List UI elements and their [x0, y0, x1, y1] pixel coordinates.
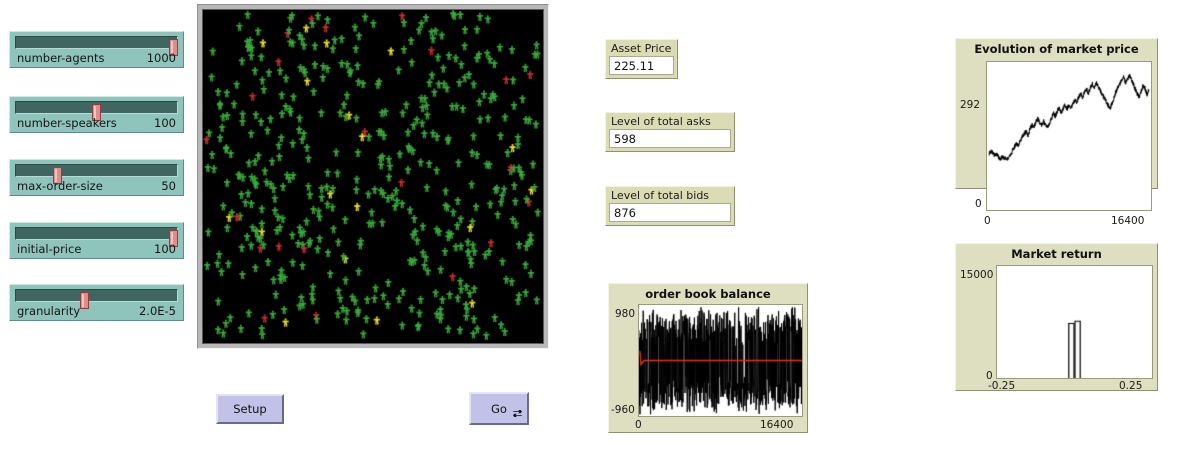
plot-order-book-balance: order book balance 980 -960 0 16400 [608, 283, 808, 433]
plot-x-min-label: 0 [984, 215, 991, 227]
plot-evolution-of-market-price: Evolution of market price 292 0 0 16400 [955, 38, 1158, 189]
slider-max-order-size[interactable]: max-order-size 50 [9, 159, 184, 196]
forever-loop-icon [512, 408, 523, 421]
plot-area [986, 61, 1152, 211]
slider-number-agents[interactable]: number-agents 1000 [9, 31, 184, 68]
monitor-level-of-total-bids: Level of total bids 876 [605, 186, 735, 226]
plot-title: order book balance [609, 287, 807, 301]
slider-value: 2.0E-5 [139, 304, 176, 318]
plot-area [638, 304, 803, 417]
slider-number-speakers[interactable]: number-speakers 100 [9, 96, 184, 133]
slider-value: 50 [161, 179, 176, 193]
slider-label: granularity [17, 304, 80, 318]
plot-y-min-label: 0 [975, 198, 982, 210]
slider-handle[interactable] [80, 292, 89, 309]
slider-track[interactable] [15, 227, 178, 240]
setup-button[interactable]: Setup [216, 394, 284, 424]
go-button[interactable]: Go [469, 392, 529, 425]
slider-initial-price[interactable]: initial-price 100 [9, 222, 184, 259]
slider-label: number-agents [17, 51, 105, 65]
slider-track[interactable] [15, 289, 178, 302]
monitor-value: 876 [609, 203, 731, 222]
plot-x-max-label: 0.25 [1119, 380, 1142, 392]
slider-value: 100 [154, 242, 176, 256]
world-view-container[interactable] [197, 4, 549, 349]
setup-button-label: Setup [233, 402, 266, 416]
monitor-caption: Asset Price [611, 42, 671, 55]
monitor-asset-price: Asset Price 225.11 [605, 39, 678, 79]
plot-y-max-label: 292 [960, 99, 980, 111]
slider-label: initial-price [17, 242, 81, 256]
monitor-caption: Level of total bids [611, 189, 709, 202]
plot-title: Market return [956, 247, 1157, 261]
go-button-label: Go [491, 402, 507, 416]
forever-loop-glyph [512, 408, 523, 419]
slider-track[interactable] [15, 36, 178, 49]
slider-value: 100 [154, 116, 176, 130]
plot-title: Evolution of market price [956, 42, 1157, 56]
plot-x-min-label: -0.25 [988, 380, 1015, 392]
plot-y-max-label: 15000 [960, 269, 993, 281]
slider-track[interactable] [15, 101, 178, 114]
monitor-value: 225.11 [609, 56, 674, 75]
plot-x-min-label: 0 [635, 419, 642, 431]
world-view[interactable] [202, 9, 544, 344]
plot-y-min-label: -960 [611, 404, 635, 416]
slider-label: max-order-size [17, 179, 103, 193]
slider-track[interactable] [15, 164, 178, 177]
plot-area [996, 265, 1153, 379]
monitor-level-of-total-asks: Level of total asks 598 [605, 112, 735, 152]
plot-y-max-label: 980 [615, 308, 635, 320]
monitor-caption: Level of total asks [611, 115, 711, 128]
world-canvas[interactable] [203, 10, 544, 344]
plot-x-max-label: 16400 [1111, 215, 1144, 227]
price-line-canvas [987, 62, 1151, 210]
slider-value: 1000 [147, 51, 176, 65]
order-book-balance-canvas [639, 305, 802, 416]
return-histogram-canvas [997, 266, 1152, 378]
slider-label: number-speakers [17, 116, 117, 130]
monitor-value: 598 [609, 129, 731, 148]
plot-x-max-label: 16400 [760, 419, 793, 431]
plot-market-return: Market return 15000 0 -0.25 0.25 [955, 243, 1158, 391]
slider-granularity[interactable]: granularity 2.0E-5 [9, 284, 184, 321]
